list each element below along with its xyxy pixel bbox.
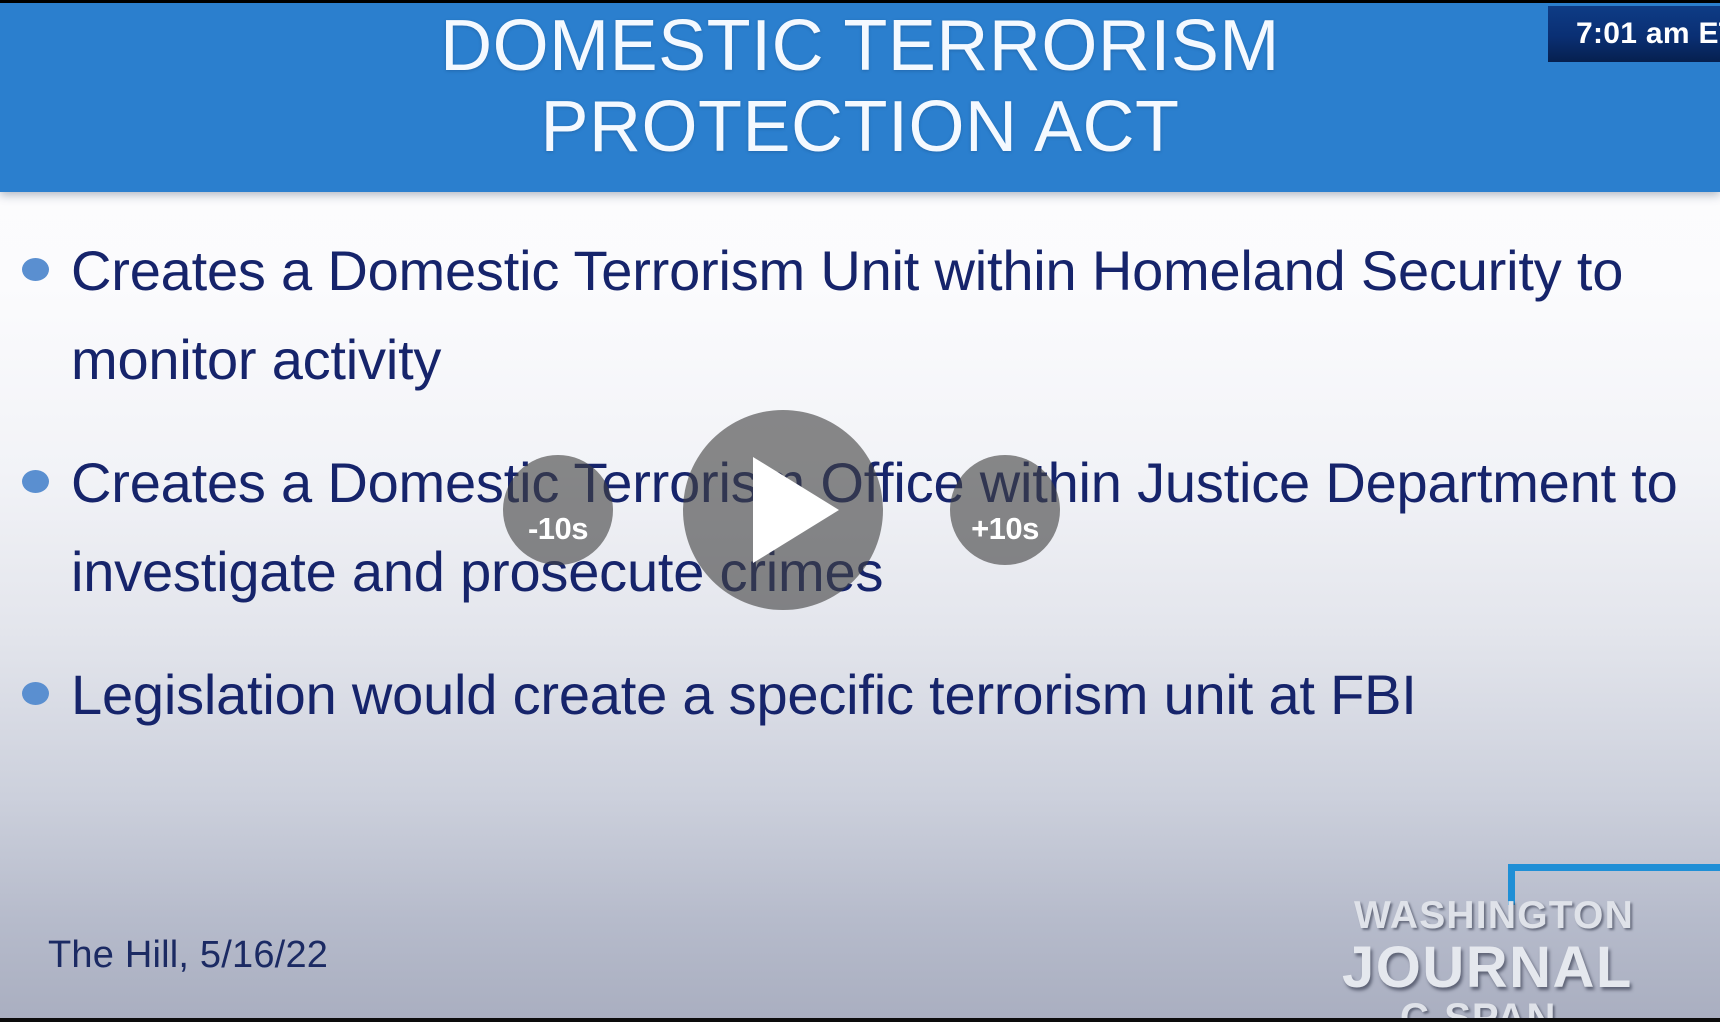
rewind-10s-button[interactable]: -10s <box>503 455 613 565</box>
frame-edge-top <box>0 0 1720 3</box>
clock-badge: 7:01 am ET <box>1548 6 1720 62</box>
play-button[interactable] <box>683 410 883 610</box>
rewind-10s-label: -10s <box>528 511 588 547</box>
logo-bracket-icon <box>1508 864 1720 905</box>
bullet-dot-icon <box>22 470 49 493</box>
clock-time-label: 7:01 am ET <box>1576 17 1720 51</box>
slide-title: DOMESTIC TERRORISM PROTECTION ACT <box>0 6 1720 168</box>
forward-10s-button[interactable]: +10s <box>950 455 1060 565</box>
slide-title-band: DOMESTIC TERRORISM PROTECTION ACT <box>0 0 1720 192</box>
source-credit: The Hill, 5/16/22 <box>48 934 328 977</box>
video-player[interactable]: DOMESTIC TERRORISM PROTECTION ACT Create… <box>0 0 1720 1022</box>
bullet-dot-icon <box>22 682 49 705</box>
network-logo-bug: WASHINGTON JOURNAL C-SPAN <box>1300 782 1720 1022</box>
bullet-dot-icon <box>22 258 49 281</box>
list-item: Legislation would create a specific terr… <box>22 650 1682 739</box>
bullet-text: Creates a Domestic Terrorism Unit within… <box>71 226 1682 404</box>
bullet-text: Legislation would create a specific terr… <box>71 650 1682 739</box>
list-item: Creates a Domestic Terrorism Unit within… <box>22 226 1682 404</box>
logo-line-journal: JOURNAL <box>1342 934 1633 1001</box>
forward-10s-label: +10s <box>971 511 1039 547</box>
logo-line-washington: WASHINGTON <box>1354 894 1634 938</box>
frame-edge-bottom <box>0 1018 1720 1022</box>
play-triangle-icon <box>753 457 839 563</box>
